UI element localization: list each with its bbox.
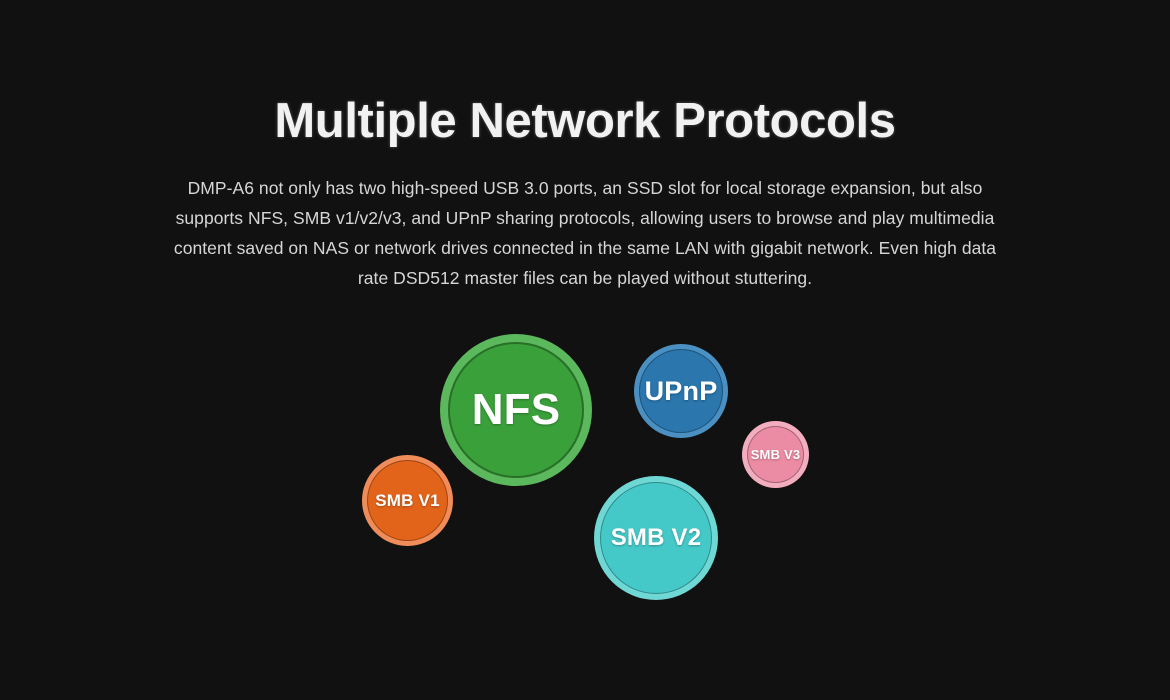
protocol-bubble-smb-v3[interactable]: SMB V3 — [742, 421, 809, 488]
protocol-bubble-disc: NFS — [448, 342, 584, 478]
protocol-bubble-label: SMB V3 — [751, 448, 801, 461]
protocol-bubble-disc: SMB V3 — [747, 426, 804, 483]
protocol-bubble-smb-v2[interactable]: SMB V2 — [594, 476, 718, 600]
protocol-bubble-label: SMB V1 — [375, 492, 440, 509]
protocol-bubble-label: NFS — [472, 388, 561, 432]
protocol-bubble-label: SMB V2 — [611, 526, 702, 550]
protocol-bubble-disc: SMB V1 — [367, 460, 448, 541]
protocol-bubble-disc: UPnP — [639, 349, 723, 433]
protocol-bubble-smb-v1[interactable]: SMB V1 — [362, 455, 453, 546]
protocol-bubble-upnp[interactable]: UPnP — [634, 344, 728, 438]
promo-page: Multiple Network Protocols DMP-A6 not on… — [0, 0, 1170, 700]
protocol-bubble-nfs[interactable]: NFS — [440, 334, 592, 486]
protocol-bubble-cluster: NFSUPnPSMB V2SMB V1SMB V3 — [0, 0, 1170, 700]
protocol-bubble-disc: SMB V2 — [600, 482, 712, 594]
protocol-bubble-label: UPnP — [645, 378, 718, 405]
